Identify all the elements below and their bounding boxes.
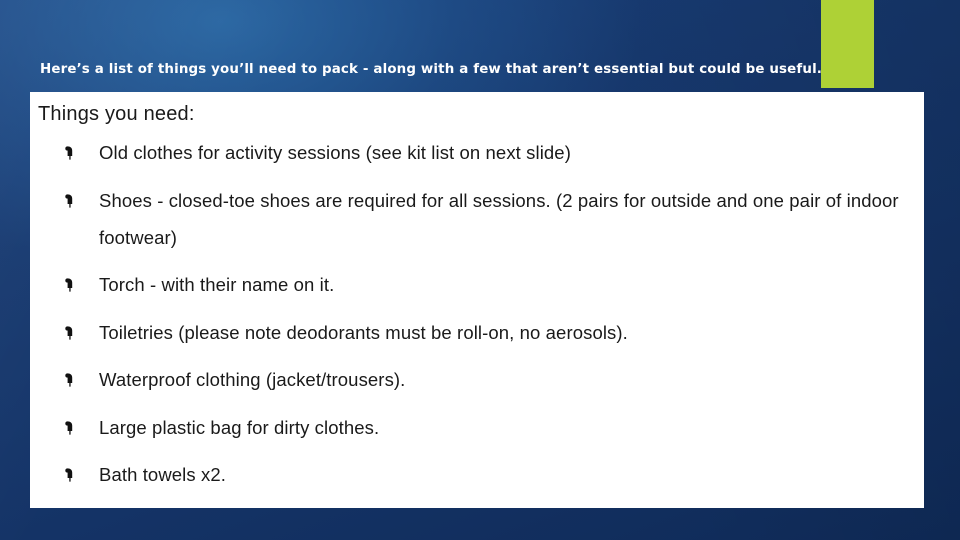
list-item: Shoes - closed-toe shoes are required fo… — [38, 182, 918, 256]
slide-canvas: Here’s a list of things you’ll need to p… — [0, 0, 960, 540]
list-item-text: Torch - with their name on it. — [99, 266, 918, 303]
list-item: Old clothes for activity sessions (see k… — [38, 134, 918, 171]
content-panel: Things you need: Old clothes for activit… — [30, 92, 924, 508]
wingdings-flag-bullet-icon — [61, 409, 77, 446]
slide-title: Here’s a list of things you’ll need to p… — [40, 61, 910, 79]
list-item-text: Waterproof clothing (jacket/trousers). — [99, 361, 918, 398]
list-heading: Things you need: — [38, 101, 195, 127]
wingdings-flag-bullet-icon — [61, 182, 77, 219]
packing-list: Old clothes for activity sessions (see k… — [38, 134, 918, 508]
list-item: Torch - with their name on it. — [38, 266, 918, 303]
list-item-text: Toiletries (please note deodorants must … — [99, 314, 918, 351]
list-item: Large plastic bag for dirty clothes. — [38, 409, 918, 446]
list-item-text: Large plastic bag for dirty clothes. — [99, 409, 918, 446]
wingdings-flag-bullet-icon — [61, 361, 77, 398]
wingdings-flag-bullet-icon — [61, 314, 77, 351]
wingdings-flag-bullet-icon — [61, 456, 77, 493]
list-item: Bath towels x2. — [38, 456, 918, 493]
list-item-text: Bath towels x2. — [99, 456, 918, 493]
list-item: Waterproof clothing (jacket/trousers). — [38, 361, 918, 398]
list-item-text: Shoes - closed-toe shoes are required fo… — [99, 182, 918, 256]
wingdings-flag-bullet-icon — [61, 134, 77, 171]
list-item-text: Sunglasses, sun cream and hat/scarf and … — [99, 504, 918, 509]
list-item-text: Old clothes for activity sessions (see k… — [99, 134, 918, 171]
wingdings-flag-bullet-icon — [61, 266, 77, 303]
wingdings-flag-bullet-icon — [61, 504, 77, 509]
list-item: Toiletries (please note deodorants must … — [38, 314, 918, 351]
list-item: Sunglasses, sun cream and hat/scarf and … — [38, 504, 918, 509]
